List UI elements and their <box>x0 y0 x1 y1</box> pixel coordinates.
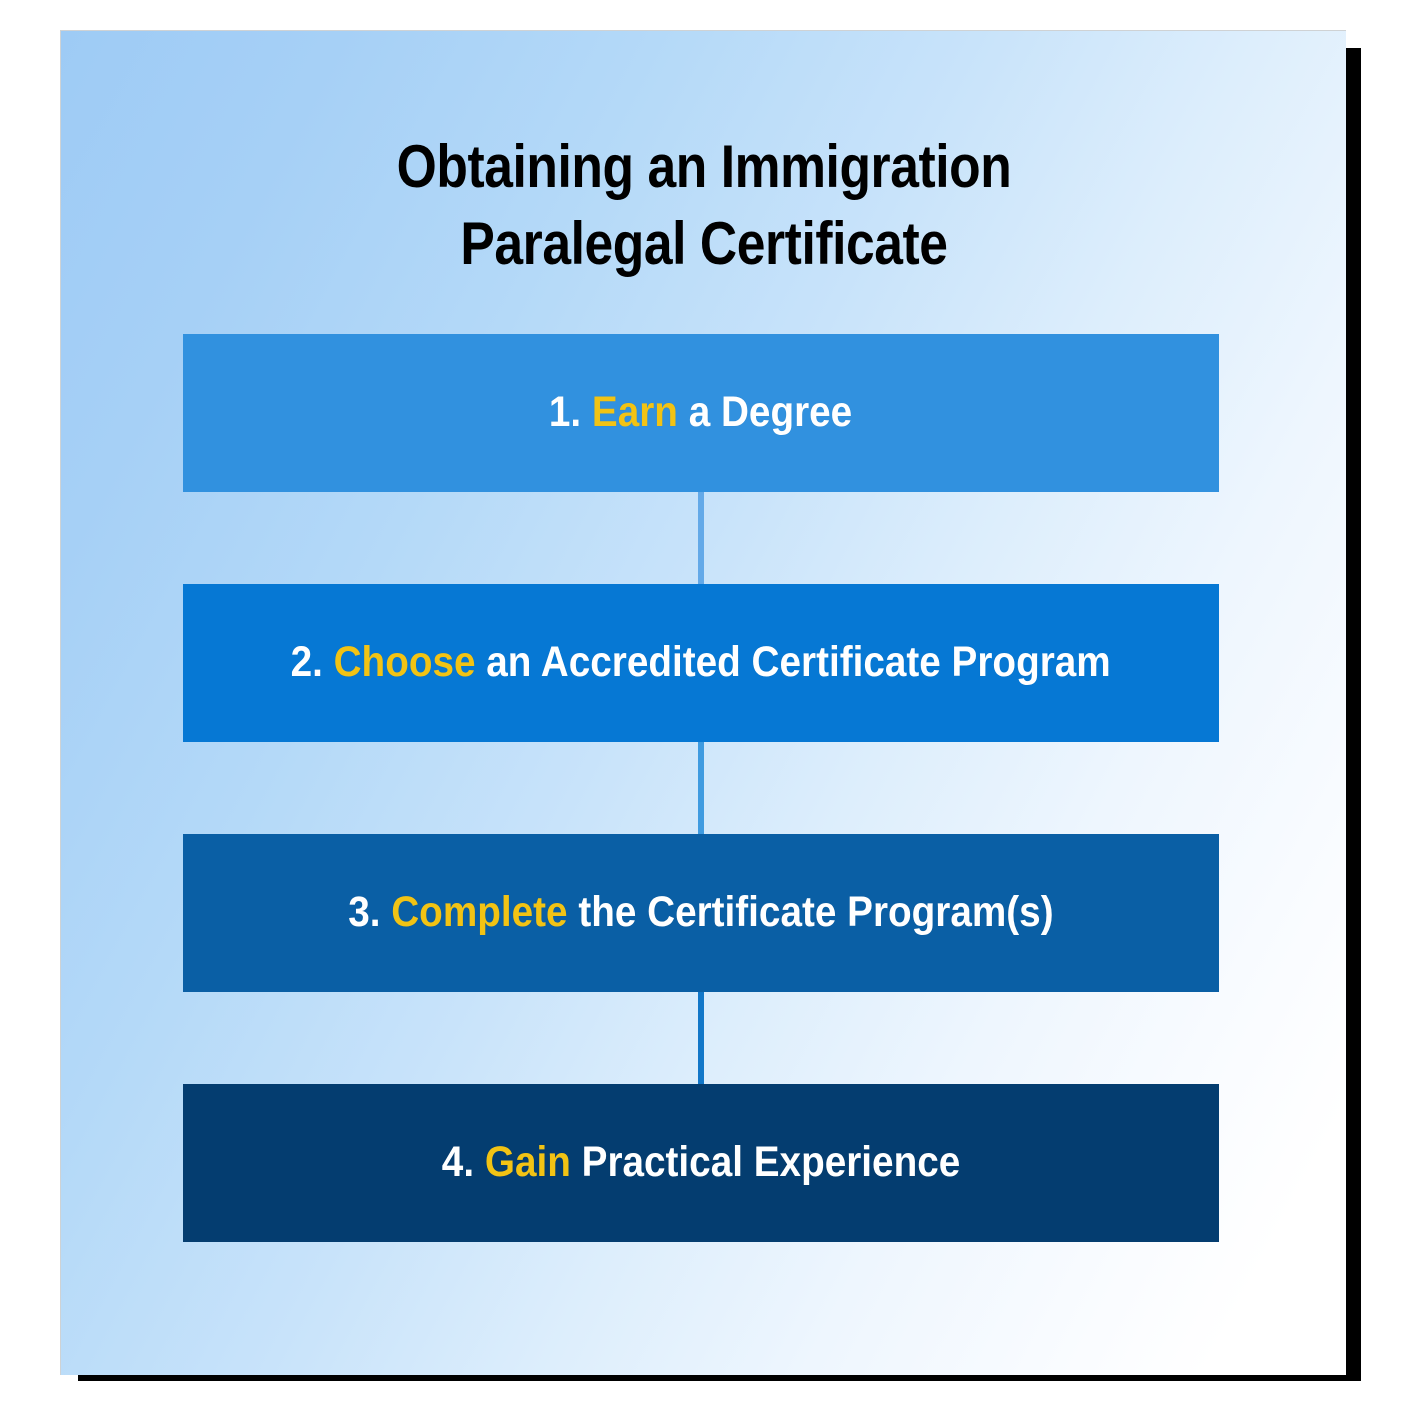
step-box-4[interactable]: 4. Gain Practical Experience <box>183 1084 1219 1242</box>
connector-line-1 <box>698 492 704 584</box>
step-highlight-3: Complete <box>391 888 567 936</box>
page-title-line-1: Obtaining an Immigration <box>151 129 1257 206</box>
connector-line-2 <box>698 742 704 834</box>
step-number-4: 4. <box>442 1138 474 1186</box>
page-title: Obtaining an Immigration Paralegal Certi… <box>151 129 1257 283</box>
step-label-2: 2. Choose an Accredited Certificate Prog… <box>291 639 1111 686</box>
connector-1-2 <box>183 492 1219 584</box>
step-number-3: 3. <box>348 888 380 936</box>
step-highlight-2: Choose <box>334 638 476 686</box>
step-highlight-1: Earn <box>592 388 678 436</box>
step-label-4: 4. Gain Practical Experience <box>442 1139 960 1186</box>
step-rest-4: Practical Experience <box>582 1138 961 1186</box>
step-number-1: 1. <box>549 388 581 436</box>
step-rest-2: an Accredited Certificate Program <box>487 638 1111 686</box>
step-box-1[interactable]: 1. Earn a Degree <box>183 334 1219 492</box>
step-number-2: 2. <box>291 638 323 686</box>
step-label-1: 1. Earn a Degree <box>549 389 852 436</box>
page-title-line-2: Paralegal Certificate <box>151 206 1257 283</box>
step-rest-3: the Certificate Program(s) <box>578 888 1053 936</box>
infographic-card: Obtaining an Immigration Paralegal Certi… <box>60 30 1346 1375</box>
connector-line-3 <box>698 992 704 1084</box>
connector-3-4 <box>183 992 1219 1084</box>
step-label-3: 3. Complete the Certificate Program(s) <box>348 889 1053 936</box>
step-box-3[interactable]: 3. Complete the Certificate Program(s) <box>183 834 1219 992</box>
connector-2-3 <box>183 742 1219 834</box>
step-box-2[interactable]: 2. Choose an Accredited Certificate Prog… <box>183 584 1219 742</box>
step-highlight-4: Gain <box>485 1138 571 1186</box>
step-rest-1: a Degree <box>689 388 853 436</box>
infographic-stage: Obtaining an Immigration Paralegal Certi… <box>0 0 1401 1410</box>
steps-flow: 1. Earn a Degree 2. Choose an Accredited… <box>183 334 1219 1242</box>
